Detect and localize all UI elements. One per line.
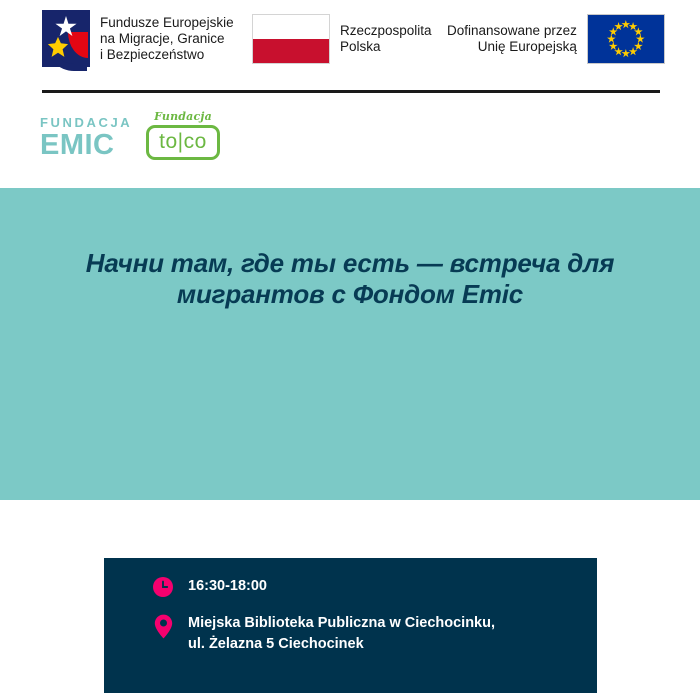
pl-line-1: Rzeczpospolita — [340, 23, 432, 39]
event-time-row: 16:30-18:00 — [152, 576, 267, 597]
rzeczpospolita-text: Rzeczpospolita Polska — [340, 23, 432, 55]
toico-wordmark: to|co — [149, 131, 217, 153]
eu-flag-star — [609, 42, 618, 51]
toico-fundacja-label: Fundacja — [146, 110, 220, 123]
hero-section: Начни там, где ты есть — встреча для миг… — [0, 188, 700, 500]
event-location-line-2: ul. Żelazna 5 Ciechocinek — [188, 634, 495, 655]
fe-line-2: na Migracje, Granice — [100, 31, 234, 47]
fundusze-europejskie-emblem — [42, 10, 90, 67]
eu-flag-star — [614, 47, 623, 56]
partner-logo-row: FUNDACJA EMIC Fundacja to|co — [0, 100, 700, 188]
fe-line-3: i Bezpieczeństwo — [100, 47, 234, 63]
clock-icon — [152, 576, 174, 597]
header-divider — [42, 90, 660, 93]
event-time-text: 16:30-18:00 — [188, 576, 267, 597]
fundacja-emic-logo: FUNDACJA EMIC — [40, 116, 132, 160]
fundacja-toico-logo: Fundacja to|co — [146, 110, 220, 160]
page-title: Начни там, где ты есть — встреча для миг… — [50, 248, 650, 310]
eu-line-2: Unię Europejską — [447, 39, 577, 55]
event-location-text: Miejska Biblioteka Publiczna w Ciechocin… — [188, 613, 495, 655]
eu-cofunding-text: Dofinansowane przez Unię Europejską — [447, 23, 577, 55]
fundusze-europejskie-logo: Fundusze Europejskie na Migracje, Granic… — [42, 10, 234, 67]
event-location-row: Miejska Biblioteka Publiczna w Ciechocin… — [152, 613, 495, 655]
eu-line-1: Dofinansowane przez — [447, 23, 577, 39]
flag-white-band — [253, 15, 329, 39]
pl-line-2: Polska — [340, 39, 432, 55]
emic-wordmark: EMIC — [40, 130, 132, 160]
eu-flag-star — [634, 42, 643, 51]
eu-flag-star — [609, 27, 618, 36]
fe-line-1: Fundusze Europejskie — [100, 15, 234, 31]
european-union-flag-icon — [587, 14, 665, 64]
toico-box: to|co — [146, 125, 220, 160]
eu-flag-star — [629, 47, 638, 56]
flag-red-band — [253, 39, 329, 63]
poland-flag-icon — [252, 14, 330, 64]
map-pin-icon — [152, 613, 174, 639]
eu-flag-star — [634, 27, 643, 36]
event-info-card: 16:30-18:00 Miejska Biblioteka Publiczna… — [104, 558, 597, 693]
eu-flag-star — [607, 35, 616, 44]
fundusze-europejskie-text: Fundusze Europejskie na Migracje, Granic… — [100, 15, 234, 63]
eu-flag-star — [621, 20, 630, 29]
funding-bar: Fundusze Europejskie na Migracje, Granic… — [0, 0, 700, 90]
eu-flag-star — [636, 35, 645, 44]
rzeczpospolita-polska-logo: Rzeczpospolita Polska — [252, 14, 432, 64]
event-location-line-1: Miejska Biblioteka Publiczna w Ciechocin… — [188, 613, 495, 634]
emic-fundacja-label: FUNDACJA — [40, 116, 132, 130]
eu-cofunding-logo: Dofinansowane przez Unię Europejską — [447, 14, 665, 64]
